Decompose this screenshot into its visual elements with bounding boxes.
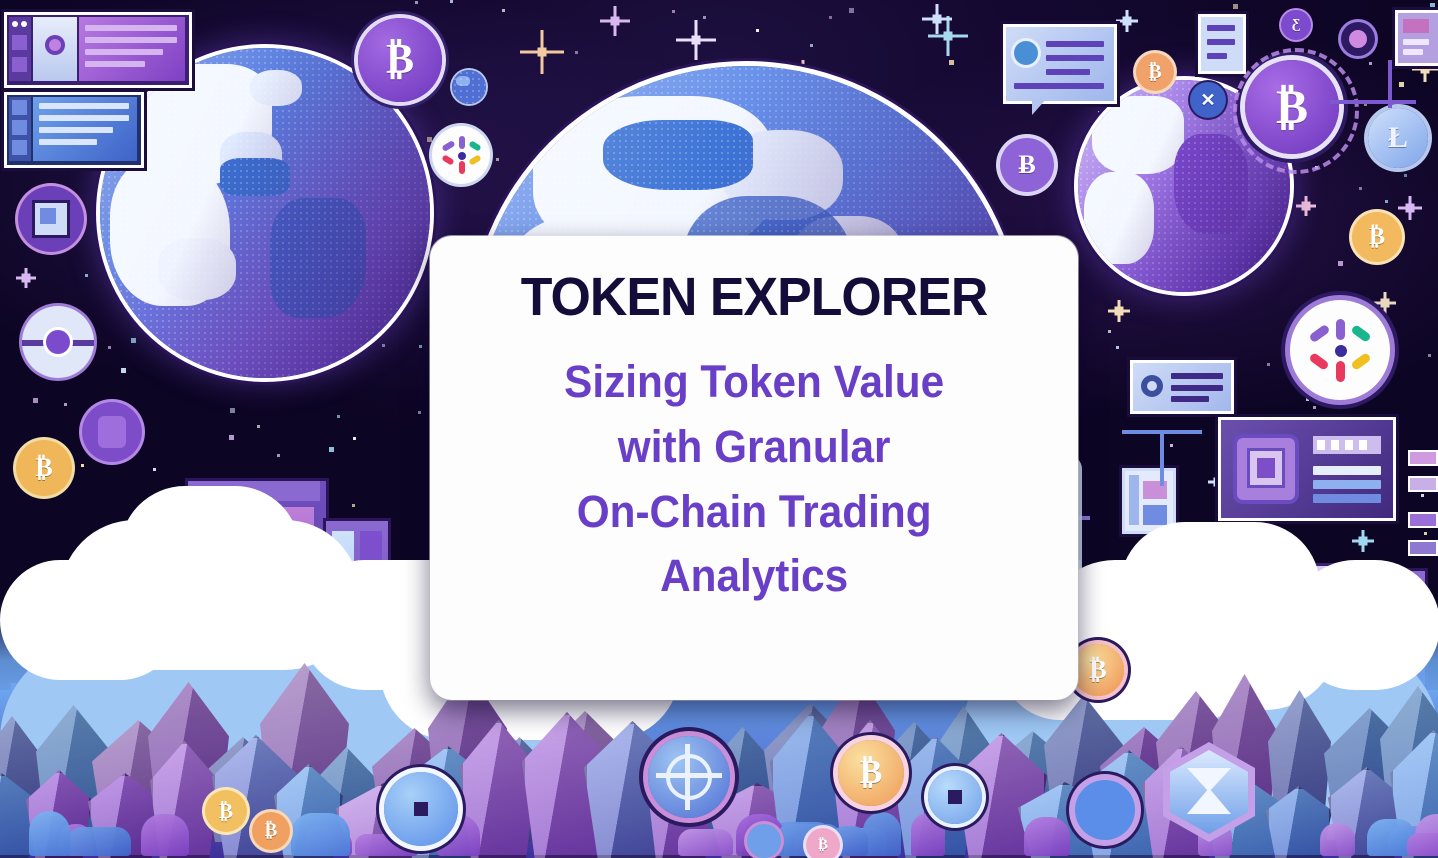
star bbox=[672, 10, 675, 13]
pinwheel-icon bbox=[441, 135, 481, 175]
chip-stack-right-3 bbox=[1408, 512, 1438, 528]
star bbox=[229, 435, 234, 440]
star bbox=[85, 274, 88, 277]
star bbox=[329, 447, 334, 452]
coin-orange-right: ₿ bbox=[1136, 53, 1174, 91]
chat-bubble-panel[interactable] bbox=[1003, 24, 1117, 104]
sparkle-icon bbox=[1374, 292, 1396, 314]
star bbox=[1404, 174, 1407, 177]
chat-bubble-tail bbox=[1032, 97, 1048, 115]
wallet-chip-panel[interactable] bbox=[1218, 417, 1396, 521]
star bbox=[703, 16, 706, 19]
star bbox=[1116, 346, 1119, 349]
thumb-card-panel[interactable] bbox=[1395, 10, 1438, 66]
sparkle-icon bbox=[676, 20, 716, 60]
star bbox=[1424, 532, 1427, 535]
coin-bottom-gold-a: ₿ bbox=[205, 790, 247, 832]
coin-purple-left bbox=[82, 402, 142, 462]
star bbox=[257, 425, 260, 428]
star bbox=[1306, 398, 1309, 401]
bitcoin-coin-top-left: ₿ bbox=[358, 18, 442, 102]
token-coin-left bbox=[22, 306, 94, 378]
list-card-panel[interactable] bbox=[1198, 14, 1246, 74]
star bbox=[1428, 354, 1431, 357]
rock bbox=[678, 829, 733, 856]
star bbox=[1399, 82, 1404, 87]
star bbox=[1359, 187, 1362, 190]
star bbox=[1421, 494, 1424, 497]
bnb-coin: Ƀ bbox=[1000, 138, 1054, 192]
coin-bottom-gold-b: ₿ bbox=[252, 812, 290, 850]
coin-bottom-blue-small bbox=[928, 770, 982, 824]
star bbox=[1369, 62, 1372, 65]
sparkle-icon bbox=[1116, 10, 1138, 32]
star bbox=[352, 504, 355, 507]
coin-gold-left: ₿ bbox=[16, 440, 72, 496]
rock bbox=[1320, 823, 1355, 856]
page-title: TOKEN EXPLORER bbox=[521, 270, 988, 324]
star bbox=[1233, 4, 1238, 9]
banner-canvas: ₿ ₿ bbox=[0, 0, 1438, 858]
star bbox=[1108, 330, 1111, 333]
star bbox=[949, 60, 954, 65]
chip-stack-right-2 bbox=[1408, 476, 1438, 492]
dashboard-panel-blue[interactable] bbox=[4, 92, 144, 168]
star bbox=[450, 0, 453, 3]
rock bbox=[67, 827, 131, 856]
connector-line-4 bbox=[1160, 430, 1164, 486]
star bbox=[353, 437, 356, 440]
connector-line-2 bbox=[1388, 60, 1392, 108]
star bbox=[849, 8, 854, 13]
star bbox=[502, 9, 505, 12]
star bbox=[33, 398, 38, 403]
coin-gold-mid-right: ₿ bbox=[1352, 212, 1402, 262]
cloud bbox=[1290, 560, 1438, 690]
star bbox=[153, 468, 156, 471]
star bbox=[415, 1, 418, 4]
rock bbox=[141, 814, 189, 856]
star bbox=[64, 403, 67, 406]
sparkle-icon bbox=[600, 6, 630, 36]
star bbox=[1313, 406, 1316, 409]
rock bbox=[1407, 833, 1438, 856]
wallet-badge-icon bbox=[18, 186, 84, 252]
star bbox=[756, 29, 759, 32]
star bbox=[277, 454, 280, 457]
coin-bottom-dot-right: ₿ bbox=[806, 828, 840, 858]
subtitle-line-3: On-Chain Trading bbox=[564, 480, 944, 545]
sparkle-icon bbox=[1352, 530, 1374, 552]
dashboard-panel-purple[interactable] bbox=[4, 12, 192, 88]
sparkle-icon bbox=[1108, 300, 1130, 322]
sparkle-icon bbox=[16, 268, 36, 288]
token-dot-right: Ƹ bbox=[1281, 10, 1311, 40]
subtitle-line-1: Sizing Token Value bbox=[564, 350, 944, 415]
sparkle-icon bbox=[922, 4, 952, 34]
pinwheel-token-right bbox=[1290, 300, 1390, 400]
card-subtitle: Sizing Token Value with Granular On-Chai… bbox=[540, 350, 969, 609]
star bbox=[1385, 200, 1388, 203]
hero-card: TOKEN EXPLORER Sizing Token Value with G… bbox=[430, 236, 1078, 700]
star bbox=[829, 16, 832, 19]
chip-stack-right-4 bbox=[1408, 540, 1438, 556]
coin-bottom-blue-disk bbox=[384, 772, 458, 846]
rock bbox=[29, 811, 70, 856]
coin-bottom-ring-right bbox=[1075, 780, 1135, 840]
star bbox=[230, 408, 235, 413]
star bbox=[1338, 261, 1343, 266]
id-card-panel[interactable] bbox=[1130, 360, 1234, 414]
subtitle-line-4: Analytics bbox=[564, 544, 944, 609]
rock bbox=[1024, 817, 1070, 856]
star bbox=[1267, 363, 1270, 366]
mini-planet-icon bbox=[452, 70, 486, 104]
star bbox=[81, 464, 84, 467]
star bbox=[1170, 444, 1173, 447]
rock bbox=[863, 812, 901, 856]
coin-bottom-dot-left bbox=[747, 824, 781, 858]
coin-bottom-bitcoin: ₿ bbox=[838, 740, 904, 806]
coin-bottom-blue-right: ₿ bbox=[1072, 644, 1124, 696]
token-circle-right bbox=[1341, 22, 1375, 56]
cloud bbox=[0, 560, 180, 680]
coin-bottom-globe-token bbox=[648, 736, 730, 818]
star bbox=[1430, 3, 1435, 8]
sparkle-icon bbox=[1398, 196, 1422, 220]
sparkle-icon bbox=[1296, 196, 1316, 216]
xrp-coin: ✕ bbox=[1190, 82, 1226, 118]
chip-stack-right bbox=[1408, 450, 1438, 466]
rock bbox=[291, 813, 350, 856]
star bbox=[575, 51, 578, 54]
star bbox=[810, 44, 813, 47]
connector-line-1 bbox=[1330, 100, 1416, 104]
star bbox=[418, 411, 421, 414]
subtitle-line-2: with Granular bbox=[564, 415, 944, 480]
pinwheel-token-left bbox=[432, 126, 490, 184]
star bbox=[337, 415, 340, 418]
litecoin-coin: Ł bbox=[1368, 108, 1428, 168]
